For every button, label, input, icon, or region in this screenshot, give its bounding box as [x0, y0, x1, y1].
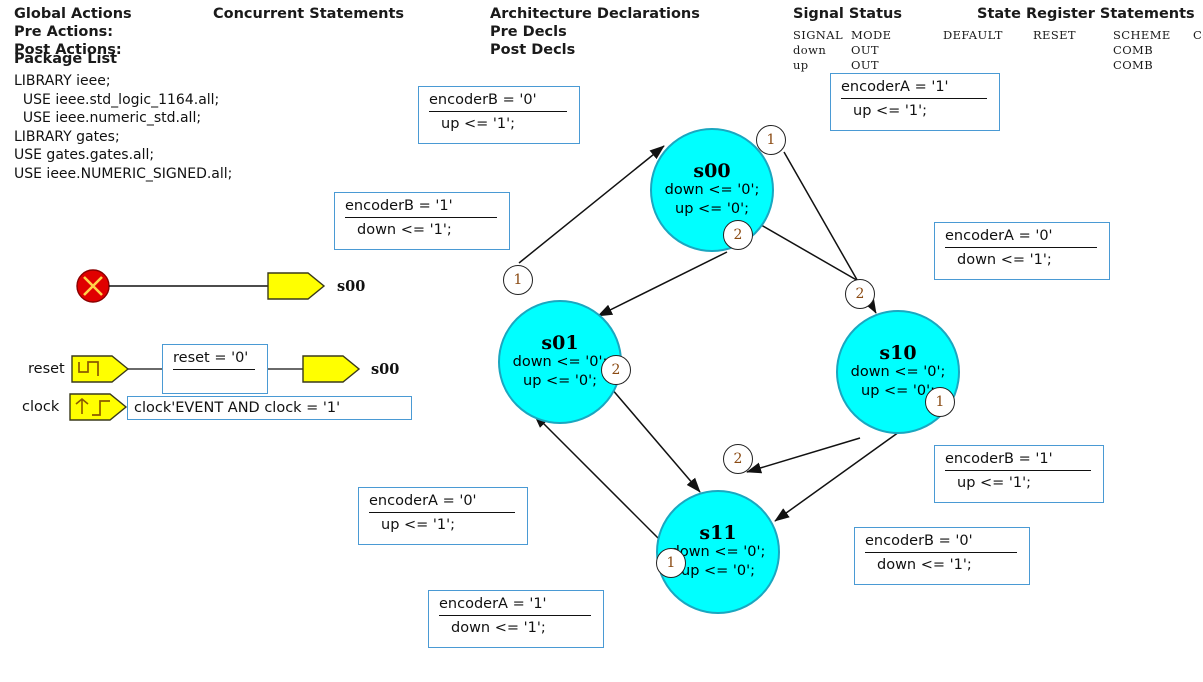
state-name: s00	[693, 161, 730, 181]
clock-condition-box[interactable]: clock'EVENT AND clock = '1'	[127, 396, 412, 420]
action-text: up <= '1';	[359, 513, 527, 538]
box-encoderb-1-up2[interactable]: encoderB = '1'up <= '1';	[934, 445, 1104, 503]
action-text: up <= '1';	[935, 471, 1103, 496]
transition-s10-s11	[747, 438, 860, 472]
transition-s01-s11	[611, 388, 700, 492]
state-action: down <= '0';	[665, 181, 760, 200]
condition-text: encoderB = '1'	[935, 446, 1103, 469]
state-action: up <= '0';	[861, 382, 935, 401]
action-text: down <= '1';	[935, 248, 1109, 273]
state-name: s11	[699, 523, 736, 543]
power-on-reset-symbol	[77, 270, 324, 302]
state-action: up <= '0';	[523, 372, 597, 391]
clock-condition-text: clock'EVENT AND clock = '1'	[128, 400, 346, 416]
reset-condition-box[interactable]: reset = '0'	[162, 344, 268, 394]
state-action: up <= '0';	[675, 200, 749, 219]
state-name: s01	[541, 333, 578, 353]
priority-bubble-2[interactable]: 2	[845, 279, 875, 309]
condition-text: encoderB = '0'	[419, 87, 579, 110]
box-encoderb-0-up[interactable]: encoderB = '0'up <= '1';	[418, 86, 580, 144]
state-action: down <= '0';	[851, 363, 946, 382]
box-encodera-0-up[interactable]: encoderA = '0'up <= '1';	[358, 487, 528, 545]
box-encoderb-1-down[interactable]: encoderB = '1'down <= '1';	[334, 192, 510, 250]
condition-text: encoderB = '0'	[855, 528, 1029, 551]
box-encodera-0-down[interactable]: encoderA = '0'down <= '1';	[934, 222, 1110, 280]
action-text: down <= '1';	[429, 616, 603, 641]
clock-signal-label: clock	[22, 399, 59, 415]
reset-target-label: s00	[371, 361, 399, 378]
power-on-target-label: s00	[337, 278, 365, 295]
state-s00[interactable]: s00down <= '0';up <= '0';	[650, 128, 774, 252]
priority-bubble-1[interactable]: 1	[756, 125, 786, 155]
state-name: s10	[879, 343, 916, 363]
state-action: down <= '0';	[513, 353, 608, 372]
reset-action-text	[163, 370, 267, 379]
transition-s00-s01	[598, 252, 727, 316]
condition-text: encoderB = '1'	[335, 193, 509, 216]
priority-bubble-1[interactable]: 1	[503, 265, 533, 295]
action-text: up <= '1';	[831, 99, 999, 124]
box-encodera-1-up[interactable]: encoderA = '1'up <= '1';	[830, 73, 1000, 131]
transition-s11-s01	[534, 414, 660, 540]
reset-signal-label: reset	[28, 361, 65, 377]
box-encoderb-0-down[interactable]: encoderB = '0'down <= '1';	[854, 527, 1030, 585]
condition-text: encoderA = '1'	[429, 591, 603, 614]
box-encodera-1-down[interactable]: encoderA = '1'down <= '1';	[428, 590, 604, 648]
state-action: up <= '0';	[681, 562, 755, 581]
action-text: down <= '1';	[855, 553, 1029, 578]
priority-bubble-1[interactable]: 1	[925, 387, 955, 417]
transition-s01-s00	[519, 146, 664, 263]
condition-text: encoderA = '1'	[831, 74, 999, 97]
action-text: up <= '1';	[419, 112, 579, 137]
priority-bubble-1[interactable]: 1	[656, 548, 686, 578]
action-text: down <= '1';	[335, 218, 509, 243]
priority-bubble-2[interactable]: 2	[601, 355, 631, 385]
priority-bubble-2[interactable]: 2	[723, 444, 753, 474]
condition-text: encoderA = '0'	[935, 223, 1109, 246]
priority-bubble-2[interactable]: 2	[723, 220, 753, 250]
reset-condition-text: reset = '0'	[163, 345, 267, 368]
clock-symbol	[70, 394, 126, 420]
condition-text: encoderA = '0'	[359, 488, 527, 511]
